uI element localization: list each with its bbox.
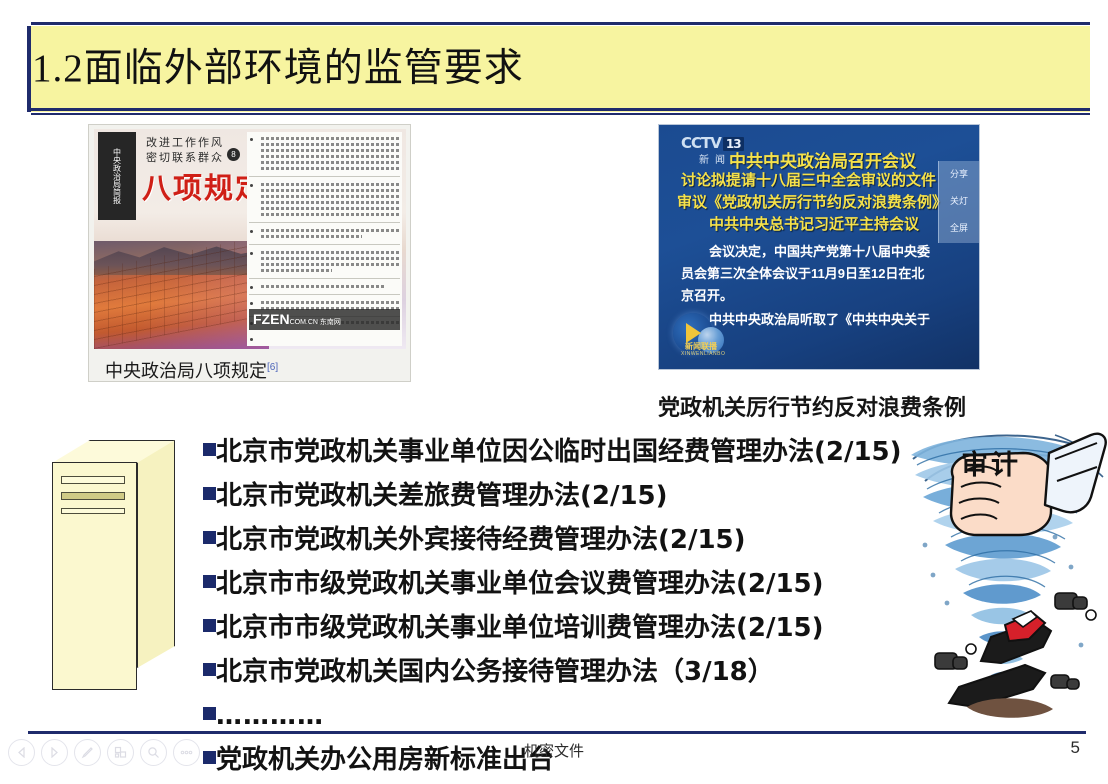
list-item: 北京市党政机关差旅费管理办法(2/15) xyxy=(203,476,933,517)
list-item: 北京市党政机关国内公务接待管理办法（3/18） xyxy=(203,652,933,693)
newspaper-watermark: FZENCOM.CN 东南网 xyxy=(249,309,400,330)
newspaper-image: 中央政治局简报 改进工作作风 密切联系群众 8 八项规定 xyxy=(94,129,406,349)
newspaper-caption-ref: [6] xyxy=(267,362,278,373)
video-body-1: 会议决定，中国共产党第十八届中央委 xyxy=(709,241,930,260)
cctv-news-screenshot: CCTV13 新闻 中共中央政治局召开会议 讨论拟提请十八届三中全会审议的文件 … xyxy=(658,124,980,370)
list-item: 北京市党政机关事业单位因公临时出国经费管理办法(2/15) xyxy=(203,432,933,473)
tower-slot-3 xyxy=(61,508,125,514)
bullet-square-icon xyxy=(203,575,216,588)
audit-label: 审计 xyxy=(961,443,1021,482)
logo-label-en: XINWENLIANBO xyxy=(681,351,725,357)
bullet-square-icon xyxy=(203,663,216,676)
xinwen-lianbo-logo: 新闻联播 XINWENLIANBO xyxy=(673,311,735,359)
list-item-label: 北京市市级党政机关事业单位会议费管理办法(2/15) xyxy=(216,564,824,605)
bullet-square-icon xyxy=(203,443,216,456)
newspaper-watermark-text: FZEN xyxy=(253,311,290,327)
cctv-logo-text: CCTV xyxy=(681,134,721,152)
video-headline-4: 中共中央总书记习近平主持会议 xyxy=(709,213,919,234)
bullet-square-icon xyxy=(203,707,216,720)
video-body-2: 员会第三次全体会议于11月9日至12日在北 xyxy=(681,263,924,282)
list-item: 北京市市级党政机关事业单位会议费管理办法(2/15) xyxy=(203,564,933,605)
newspaper-headline-line1: 改进工作作风 xyxy=(146,134,224,150)
slide-canvas: 1.2面临外部环境的监管要求 中央政治局简报 改进工作作风 密切联系群众 8 八… xyxy=(0,0,1108,766)
newspaper-headline-line2: 密切联系群众 xyxy=(146,149,224,165)
newspaper-clipping-card: 中央政治局简报 改进工作作风 密切联系群众 8 八项规定 xyxy=(88,124,411,382)
video-side-panel: 分享 关灯 全屏 xyxy=(938,161,979,243)
footer-rule xyxy=(28,731,1086,734)
newspaper-text-column: FZENCOM.CN 东南网 xyxy=(247,132,402,346)
video-share-button[interactable]: 分享 xyxy=(939,161,979,188)
list-item-label: 北京市党政机关差旅费管理办法(2/15) xyxy=(216,476,668,517)
page-number: 5 xyxy=(1071,738,1080,758)
list-item-label: 北京市党政机关事业单位因公临时出国经费管理办法(2/15) xyxy=(216,432,902,473)
list-item: 北京市市级党政机关事业单位培训费管理办法(2/15) xyxy=(203,608,933,649)
tower-front-panel xyxy=(52,462,137,690)
newspaper-caption: 中央政治局八项规定[6] xyxy=(105,357,278,382)
newspaper-headline-badge: 8 xyxy=(227,148,240,161)
bullet-square-icon xyxy=(203,531,216,544)
video-headline-3: 审议《党政机关厉行节约反对浪费条例》 xyxy=(677,191,947,212)
newspaper-caption-text: 中央政治局八项规定 xyxy=(105,361,267,381)
newspaper-watermark-sub: COM.CN 东南网 xyxy=(290,319,341,326)
bullet-square-icon xyxy=(203,487,216,500)
play-icon xyxy=(686,323,701,343)
title-bottom-rule-outer xyxy=(31,108,1090,111)
server-tower-graphic xyxy=(52,440,187,690)
list-item-label: 北京市党政机关国内公务接待管理办法（3/18） xyxy=(216,652,774,693)
list-item-label: 北京市市级党政机关事业单位培训费管理办法(2/15) xyxy=(216,608,824,649)
tower-side-panel xyxy=(137,440,175,668)
great-wall-photo xyxy=(94,241,269,349)
page-title: 1.2面临外部环境的监管要求 xyxy=(32,38,1072,100)
video-body-3: 京召开。 xyxy=(681,285,733,304)
list-item-label: 北京市党政机关外宾接待经费管理办法(2/15) xyxy=(216,520,746,561)
cctv-program-label: 新闻 xyxy=(699,151,731,166)
video-fullscreen-button[interactable]: 全屏 xyxy=(939,215,979,242)
list-item: 北京市党政机关外宾接待经费管理办法(2/15) xyxy=(203,520,933,561)
title-top-rule-outer xyxy=(31,22,1090,25)
newspaper-masthead: 中央政治局简报 xyxy=(98,132,136,220)
footer-label: 机密文件 xyxy=(0,740,1108,761)
tower-slot-2 xyxy=(61,492,125,500)
newspaper-masthead-label: 中央政治局简报 xyxy=(113,132,122,215)
video-caption: 党政机关厉行节约反对浪费条例 xyxy=(658,390,998,422)
video-lightsoff-button[interactable]: 关灯 xyxy=(939,188,979,215)
tower-slot-1 xyxy=(61,476,125,484)
audit-tornado-illustration: 审计 xyxy=(905,425,1108,730)
video-headline-2: 讨论拟提请十八届三中全会审议的文件 xyxy=(681,169,936,190)
video-body-4: 中共中央政治局听取了《中共中央关于 xyxy=(709,309,930,328)
bullet-square-icon xyxy=(203,619,216,632)
title-bottom-rule-inner xyxy=(31,113,1090,115)
